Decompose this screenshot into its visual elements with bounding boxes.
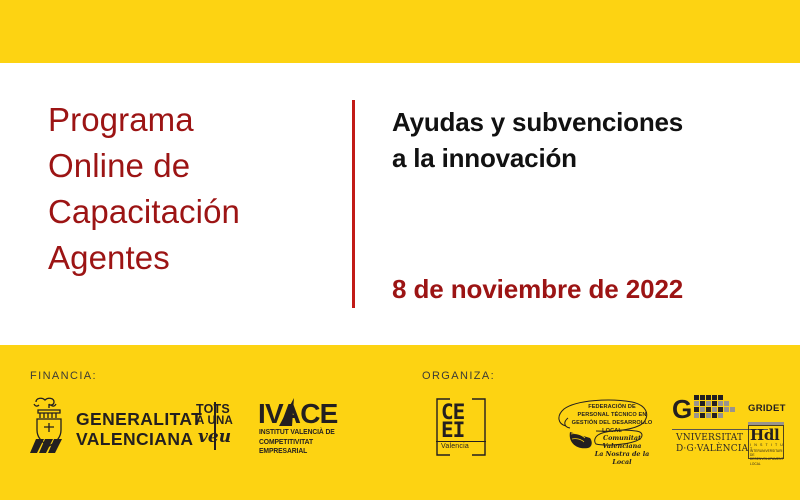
ivace-wordmark: IVACE [258, 398, 338, 430]
ivace-logo: IVACE INSTITUT VALENCIÀ DE COMPETITIVITA… [258, 398, 356, 454]
gridet-wordmark: GRIDET [748, 403, 786, 414]
hdl-subtitle-2: INTERUNIVERSITARI DE DESENVOLUPAMENT LOC… [750, 449, 784, 466]
hdl-wordmark: Hdl [750, 427, 779, 443]
ceei-city: Valencia [441, 443, 469, 450]
gridet-logo: G GRIDET VNIVERSIT [672, 393, 784, 459]
ivace-slash-mark-icon [279, 398, 294, 426]
ceei-line-2: EI [441, 418, 464, 442]
top-yellow-band [0, 0, 800, 63]
tots-line-1: TOTS [196, 402, 230, 416]
poster-canvas: Programa Online de Capacitación Agentes … [0, 0, 800, 500]
organiza-label: ORGANIZA: [422, 370, 495, 382]
generalitat-coat-of-arms-icon [28, 396, 70, 458]
gridet-pixel-grid-icon [694, 395, 746, 425]
hdl-institute-logo: Hdl I N S T I T U T INTERUNIVERSITARI DE… [748, 426, 784, 459]
federacion-personal-tecnico-logo: FEDERACIÓN DE PERSONAL TÉCNICO EN GESTIÓ… [548, 398, 652, 456]
program-title: Programa Online de Capacitación Agentes [48, 97, 338, 281]
tots-a-una-veu-logo: TOTS A UNA veu [196, 400, 250, 452]
session-date: 8 de noviembre de 2022 [392, 274, 782, 305]
session-title: Ayudas y subvenciones a la innovación [392, 104, 772, 176]
ceei-rule [436, 441, 486, 442]
gridet-letter: G [672, 396, 692, 422]
federacion-text: FEDERACIÓN DE PERSONAL TÉCNICO EN GESTIÓ… [570, 403, 654, 435]
generalitat-valenciana-logo: GENERALITAT VALENCIANA [28, 396, 196, 458]
universitat-valencia-wordmark: VNIVERSITAT D·G·VALÈNCIA [676, 433, 748, 455]
tots-line-2: A UNA [196, 415, 233, 427]
financia-label: FINANCIA: [30, 370, 97, 382]
ivace-subtitle: INSTITUT VALENCIÀ DE COMPETITIVITAT EMPR… [259, 427, 350, 456]
tots-line-3: veu [198, 427, 231, 447]
vertical-divider [352, 100, 355, 308]
federacion-subtitle: Comunitat Valenciana La Nostra de la Loc… [592, 434, 652, 466]
ceei-valencia-logo: CE EI Valencia [436, 398, 490, 456]
generalitat-wordmark: GENERALITAT VALENCIANA [76, 409, 202, 449]
main-content-area: Programa Online de Capacitación Agentes … [0, 63, 800, 345]
